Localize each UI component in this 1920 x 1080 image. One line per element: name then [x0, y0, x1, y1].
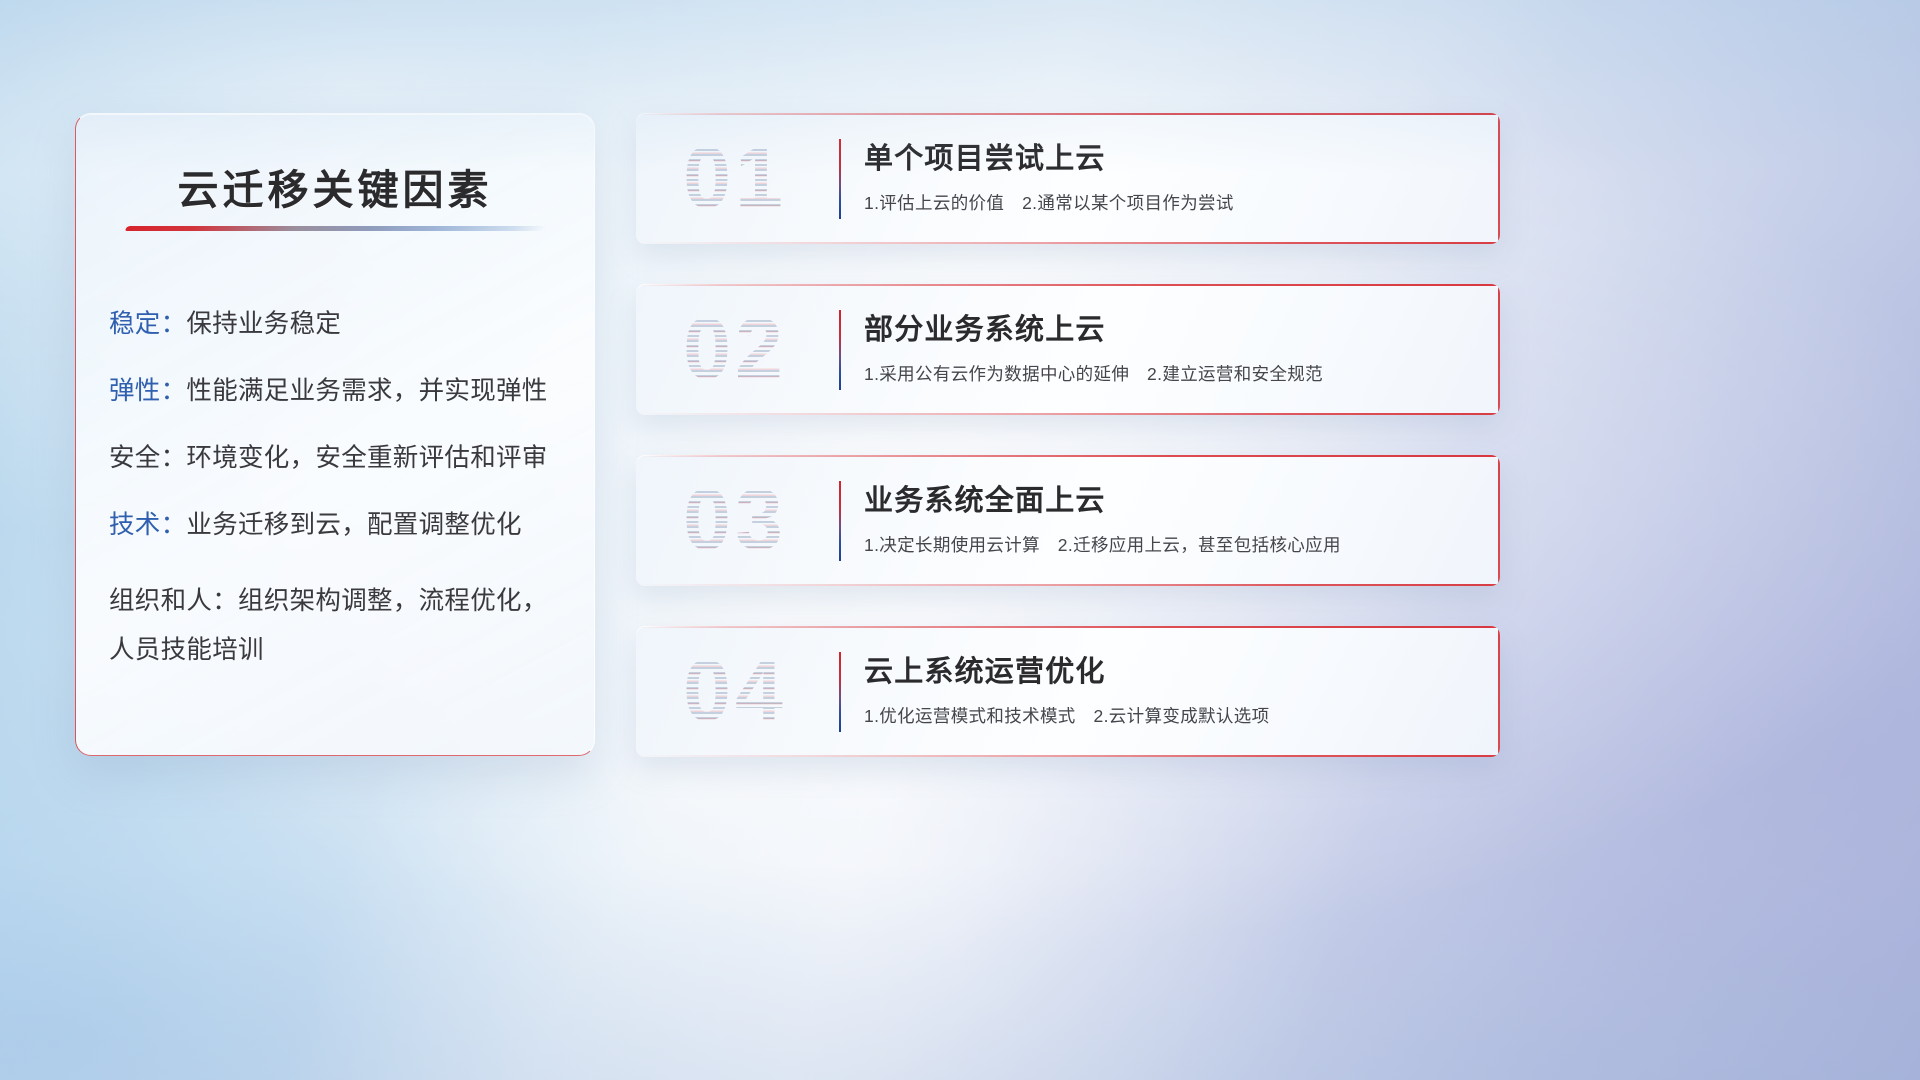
fact-text: 业务迁移到云，配置调整优化	[186, 511, 521, 539]
list-item: 稳定：保持业务稳定	[109, 308, 570, 341]
list-item: 安全：环境变化，安全重新评估和评审	[109, 442, 570, 475]
card-top-accent-line	[636, 113, 1500, 115]
card-top-accent-line	[636, 455, 1500, 457]
stage-card[interactable]: 01 01 单个项目尝试上云 1.评估上云的价值 2.通常以某个项目作为尝试	[636, 113, 1500, 244]
fact-text: 环境变化，安全重新评估和评审	[186, 444, 547, 472]
card-top-accent-line	[636, 626, 1500, 628]
stage-number-watermark-tint: 03	[660, 466, 810, 574]
list-item: 组织和人：组织架构调整，流程优化，人员技能培训	[109, 577, 570, 675]
fact-label: 弹性：	[109, 377, 186, 405]
stage-card[interactable]: 04 04 云上系统运营优化 1.优化运营模式和技术模式 2.云计算变成默认选项	[636, 626, 1500, 757]
fact-text: 性能满足业务需求，并实现弹性	[186, 377, 547, 405]
stage-description: 1.评估上云的价值 2.通常以某个项目作为尝试	[864, 190, 1474, 215]
list-item: 技术：业务迁移到云，配置调整优化	[109, 509, 570, 542]
stage-card[interactable]: 03 03 业务系统全面上云 1.决定长期使用云计算 2.迁移应用上云，甚至包括…	[636, 455, 1500, 586]
fact-label: 稳定：	[109, 310, 186, 338]
stage-card[interactable]: 02 02 部分业务系统上云 1.采用公有云作为数据中心的延伸 2.建立运营和安…	[636, 284, 1500, 415]
stage-number-watermark-tint: 04	[660, 637, 810, 745]
stage-heading: 部分业务系统上云	[864, 306, 1474, 348]
card-right-accent-line	[1498, 113, 1500, 244]
fact-text: 保持业务稳定	[186, 310, 341, 338]
stage-divider-bar	[839, 652, 841, 732]
stage-number-watermark-tint: 01	[660, 124, 810, 232]
title-underline-rule	[124, 226, 547, 231]
stage-divider-bar	[839, 139, 841, 219]
key-factors-panel: 云迁移关键因素 稳定：保持业务稳定 弹性：性能满足业务需求，并实现弹性 安全：环…	[75, 113, 595, 756]
card-top-accent-line	[636, 284, 1500, 286]
fact-label: 组织和人：	[109, 587, 238, 615]
key-factors-list: 稳定：保持业务稳定 弹性：性能满足业务需求，并实现弹性 安全：环境变化，安全重新…	[109, 308, 570, 708]
stage-description: 1.优化运营模式和技术模式 2.云计算变成默认选项	[864, 703, 1474, 728]
card-right-accent-line	[1498, 455, 1500, 586]
stage-description: 1.决定长期使用云计算 2.迁移应用上云，甚至包括核心应用	[864, 532, 1474, 557]
stage-divider-bar	[839, 481, 841, 561]
list-item: 弹性：性能满足业务需求，并实现弹性	[109, 375, 570, 408]
card-bottom-accent-line	[636, 584, 1500, 586]
stage-divider-bar	[839, 310, 841, 390]
fact-label: 技术：	[109, 511, 186, 539]
stage-heading: 云上系统运营优化	[864, 648, 1474, 690]
card-bottom-accent-line	[636, 413, 1500, 415]
stage-heading: 业务系统全面上云	[864, 477, 1474, 519]
card-right-accent-line	[1498, 626, 1500, 757]
slide-canvas: 云迁移关键因素 稳定：保持业务稳定 弹性：性能满足业务需求，并实现弹性 安全：环…	[0, 0, 1920, 1080]
fact-label: 安全：	[109, 444, 186, 472]
stage-heading: 单个项目尝试上云	[864, 135, 1474, 177]
migration-stages-list: 01 01 单个项目尝试上云 1.评估上云的价值 2.通常以某个项目作为尝试 0…	[636, 113, 1500, 797]
card-right-accent-line	[1498, 284, 1500, 415]
page-title: 云迁移关键因素	[76, 156, 594, 216]
stage-number-watermark-tint: 02	[660, 295, 810, 403]
card-bottom-accent-line	[636, 755, 1500, 757]
card-bottom-accent-line	[636, 242, 1500, 244]
stage-description: 1.采用公有云作为数据中心的延伸 2.建立运营和安全规范	[864, 361, 1474, 386]
